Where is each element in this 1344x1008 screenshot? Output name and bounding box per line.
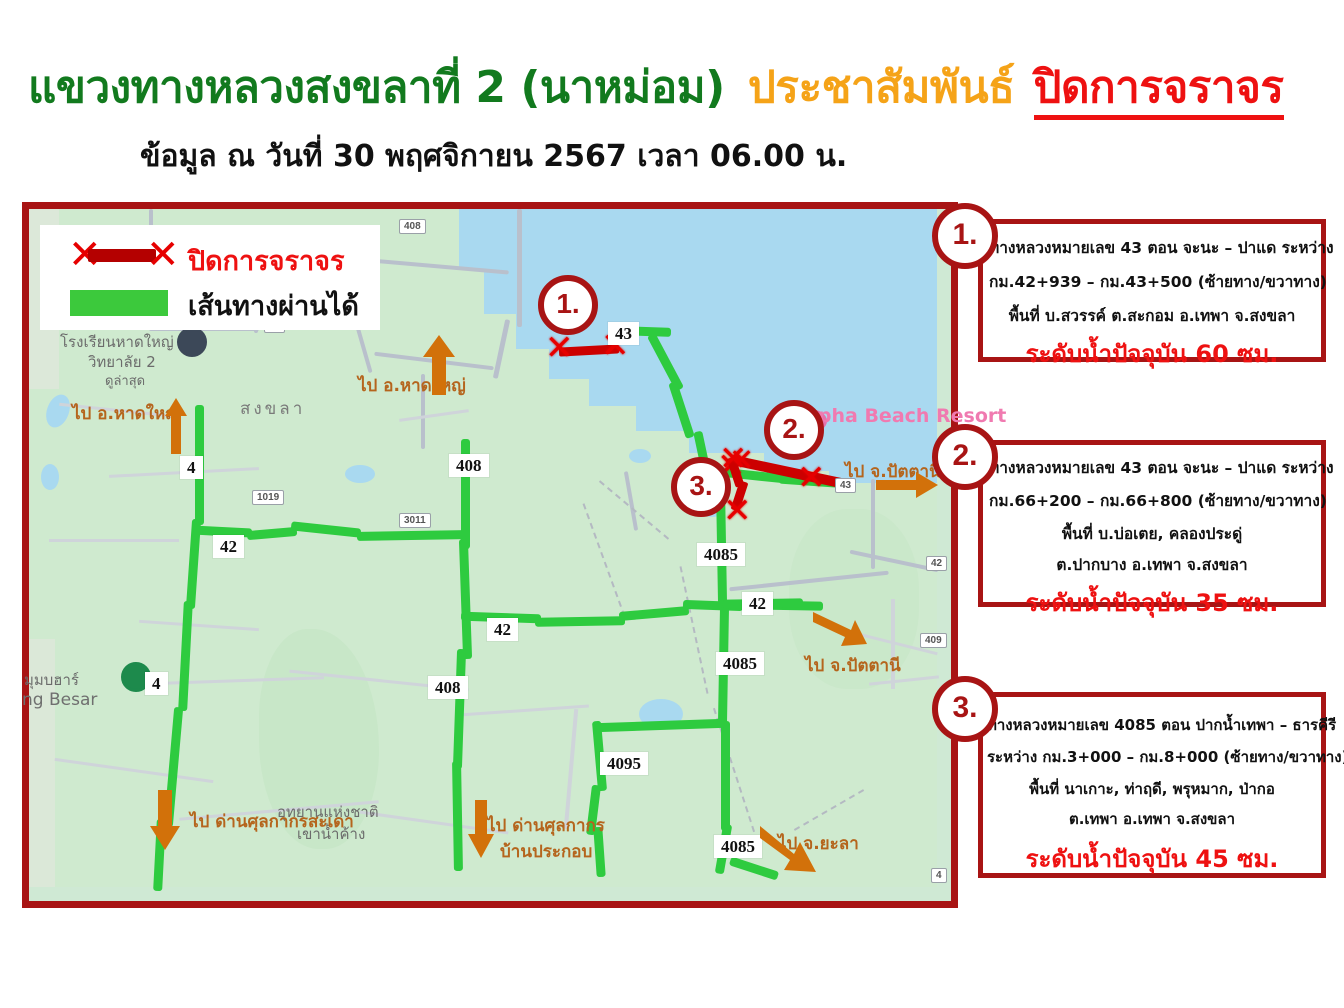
- panel-1-line-2: กม.42+939 – กม.43+500 (ซ้ายทาง/ขวาทาง): [989, 269, 1315, 294]
- closure-x-icon: ✕: [797, 461, 826, 495]
- thin-road: [891, 599, 895, 689]
- school-pin: [177, 327, 207, 357]
- panel-3-number-badge: 3.: [932, 676, 998, 742]
- panel-1-line-3: พื้นที่ บ.สวรรค์ ต.สะกอม อ.เทพา จ.สงขลา: [989, 303, 1315, 328]
- legend-open-bar: [70, 290, 168, 316]
- map-water: [345, 465, 375, 483]
- panel-1-water-level: ระดับน้ำปัจจุบัน 60 ซม.: [989, 334, 1315, 373]
- school-poi-icon: [177, 327, 207, 365]
- panel-3-line-1: ทางหลวงหมายเลข 4085 ตอน ปากน้ำเทพา – ธาร…: [987, 713, 1317, 737]
- map-forest: [789, 509, 919, 689]
- title-segment-closure: ปิดการจราจร: [1034, 62, 1284, 120]
- legend-x-icon-right: ✕: [146, 235, 180, 275]
- legend-closed-label: ปิดการจราจร: [188, 239, 345, 282]
- panel-1-line-1: ทางหลวงหมายเลข 43 ตอน จะนะ – ปาแด ระหว่า…: [989, 235, 1315, 260]
- map-greypatch: [29, 639, 55, 887]
- green-route-408: [461, 439, 470, 549]
- map-legend: ✕ ✕ ปิดการจราจร เส้นทางผ่านได้: [40, 225, 380, 330]
- closure-x-icon: ✕: [601, 329, 630, 363]
- panel-1-number-badge: 1.: [932, 203, 998, 269]
- resort-poi-icon: [791, 409, 827, 433]
- panel-3-water-level: ระดับน้ำปัจจุบัน 45 ซม.: [987, 839, 1317, 878]
- panel-2-line-4: ต.ปากบาง อ.เทพา จ.สงขลา: [989, 552, 1315, 577]
- info-panel-2: ทางหลวงหมายเลข 43 ตอน จะนะ – ปาแด ระหว่า…: [978, 440, 1326, 607]
- grey-road: [421, 374, 425, 449]
- green-route-42: [357, 530, 467, 541]
- legend-open-label: เส้นทางผ่านได้: [188, 284, 359, 327]
- map-sea: [484, 264, 937, 314]
- panel-2-water-level: ระดับน้ำปัจจุบัน 35 ซม.: [989, 583, 1315, 622]
- green-route-4085: [721, 721, 730, 831]
- park-poi-icon: [121, 662, 151, 700]
- page-title: แขวงทางหลวงสงขลาที่ 2 (นาหม่อม) ประชาสัม…: [28, 52, 1328, 122]
- green-route-4: [195, 405, 204, 525]
- info-panel-1: ทางหลวงหมายเลข 43 ตอน จะนะ – ปาแด ระหว่า…: [978, 219, 1326, 362]
- closure-x-icon: ✕: [545, 331, 574, 365]
- green-route-42-east: [723, 598, 803, 608]
- grey-road: [871, 479, 875, 569]
- legend-row-open: เส้นทางผ่านได้: [40, 280, 380, 326]
- panel-3-line-2: ระหว่าง กม.3+000 – กม.8+000 (ซ้ายทาง/ขวา…: [987, 745, 1317, 769]
- map-sea: [516, 309, 937, 349]
- legend-row-closed: ✕ ✕ ปิดการจราจร: [40, 231, 380, 279]
- header-banner: แขวงทางหลวงสงขลาที่ 2 (นาหม่อม) ประชาสัม…: [0, 0, 1344, 190]
- title-segment-pr: ประชาสัมพันธ์: [748, 62, 1015, 113]
- title-segment-office: แขวงทางหลวงสงขลาที่ 2 (นาหม่อม): [28, 62, 725, 113]
- grey-road: [517, 209, 522, 327]
- panel-2-line-2: กม.66+200 – กม.66+800 (ซ้ายทาง/ขวาทาง): [989, 488, 1315, 513]
- closure-x-icon: ✕: [719, 442, 748, 476]
- panel-3-line-4: ต.เทพา อ.เทพา จ.สงขลา: [987, 807, 1317, 831]
- closure-x-icon: ✕: [723, 494, 752, 528]
- panel-2-line-1: ทางหลวงหมายเลข 43 ตอน จะนะ – ปาแด ระหว่า…: [989, 455, 1315, 480]
- park-pin: [121, 662, 151, 692]
- map-sea: [459, 209, 937, 269]
- green-route-408: [452, 761, 463, 871]
- info-panel-3: ทางหลวงหมายเลข 4085 ตอน ปากน้ำเทพา – ธาร…: [978, 692, 1326, 878]
- panel-2-number-badge: 2.: [932, 424, 998, 490]
- data-timestamp: ข้อมูล ณ วันที่ 30 พฤศจิกายน 2567 เวลา 0…: [140, 133, 847, 180]
- panel-2-line-3: พื้นที่ บ.บ่อเตย, คลองประดู่: [989, 521, 1315, 546]
- map-water: [629, 449, 651, 463]
- thin-road: [49, 539, 179, 542]
- panel-3-line-3: พื้นที่ นาเกาะ, ท่าฤดี, พรุหมาก, ป่ากอ: [987, 777, 1317, 801]
- green-route-42-main: [535, 616, 625, 627]
- map-water: [41, 464, 59, 490]
